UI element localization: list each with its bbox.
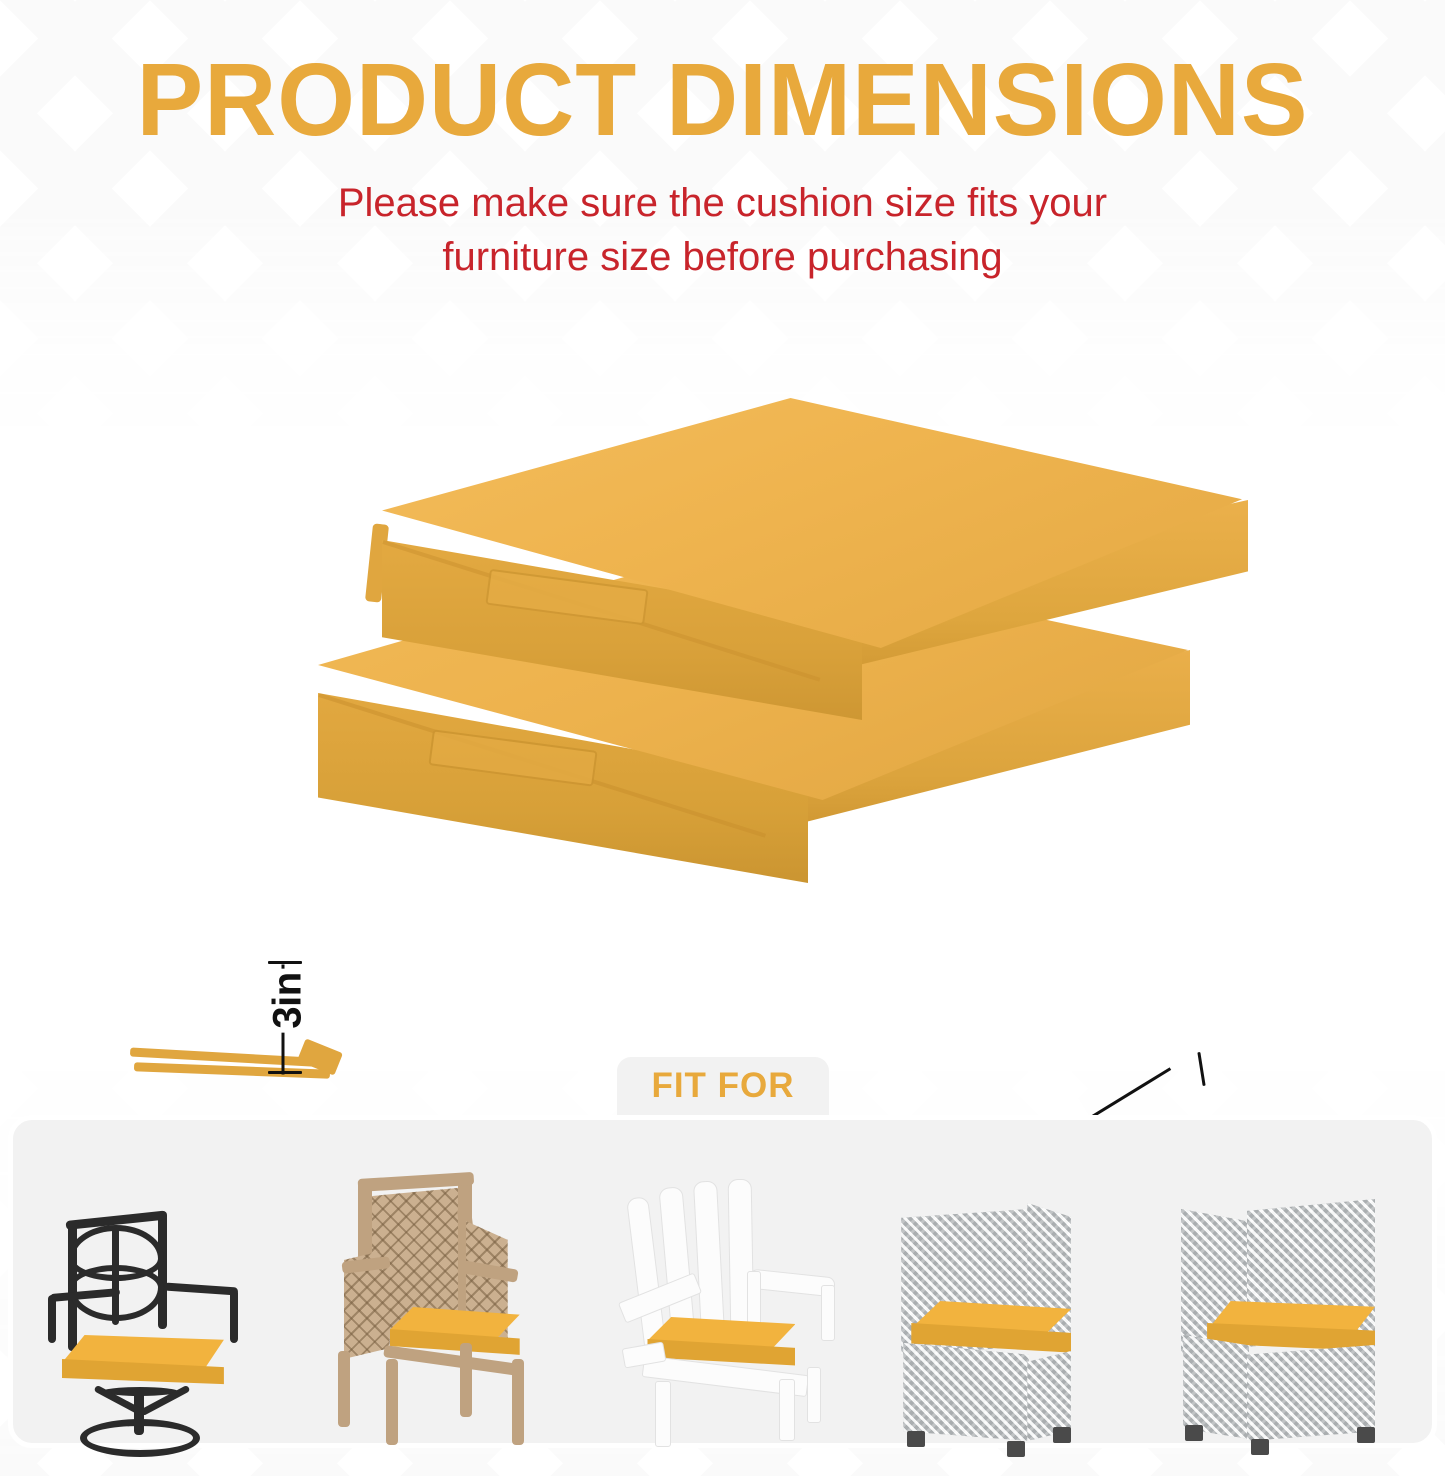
- swivel-chair-illustration: [30, 1163, 280, 1443]
- sectional-middle-illustration: [881, 1163, 1131, 1443]
- wicker-chair-illustration: [314, 1163, 564, 1443]
- cushion-upper: [0, 300, 1445, 660]
- dimension-tick-height-top: [268, 961, 302, 964]
- fit-for-panel: [8, 1115, 1437, 1448]
- furniture-item-sectional-middle: [872, 1143, 1140, 1443]
- product-hero: 3in 16in 17in: [0, 300, 1445, 1040]
- dimension-tick-height-bottom: [268, 1071, 302, 1074]
- fit-for-tab: FIT FOR: [617, 1057, 829, 1115]
- dimension-tick-depth-top: [1197, 1052, 1205, 1086]
- furniture-item-swivel-chair: [21, 1143, 289, 1443]
- header: PRODUCT DIMENSIONS Please make sure the …: [0, 0, 1445, 284]
- sectional-corner-illustration: [1165, 1163, 1415, 1443]
- page-title: PRODUCT DIMENSIONS: [22, 0, 1424, 151]
- fit-for-label: FIT FOR: [651, 1066, 794, 1106]
- dimension-label-height: 3in: [266, 968, 311, 1032]
- furniture-item-adirondack-chair: [588, 1143, 856, 1443]
- subtitle-line-2: furniture size before purchasing: [0, 231, 1445, 285]
- furniture-item-wicker-chair: [305, 1143, 573, 1443]
- furniture-item-sectional-corner: [1156, 1143, 1424, 1443]
- adirondack-chair-illustration: [597, 1163, 847, 1443]
- subtitle-line-1: Please make sure the cushion size fits y…: [0, 177, 1445, 231]
- subtitle: Please make sure the cushion size fits y…: [0, 177, 1445, 284]
